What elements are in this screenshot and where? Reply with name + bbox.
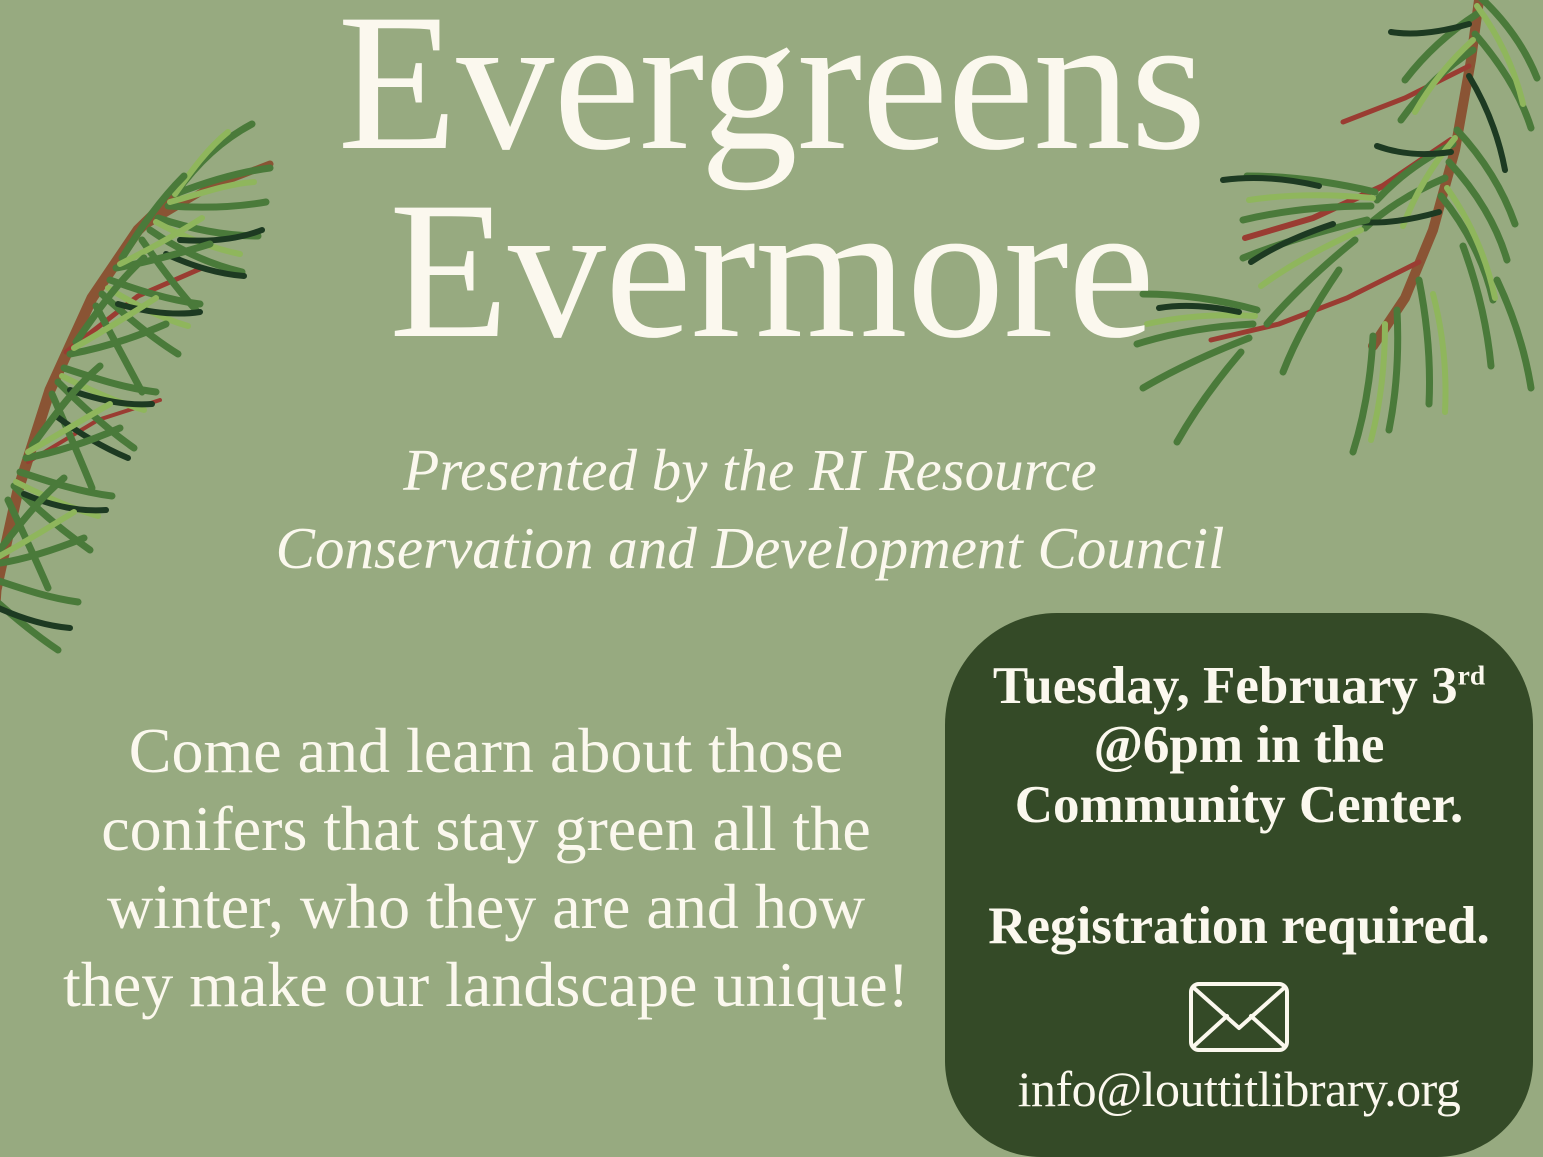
title-line-1: Evergreens	[0, 0, 1543, 180]
envelope-icon-glyph	[1187, 980, 1291, 1054]
event-date-prefix: Tuesday, February	[993, 657, 1418, 715]
event-details-panel: Tuesday, February 3rd @6pm in the Commun…	[945, 613, 1533, 1157]
event-day-ordinal: rd	[1458, 659, 1486, 690]
subtitle-line-2: Conservation and Development Council	[140, 510, 1360, 588]
envelope-icon	[967, 980, 1511, 1054]
contact-email[interactable]: info@louttitlibrary.org	[967, 1062, 1511, 1117]
poster-subtitle: Presented by the RI Resource Conservatio…	[140, 432, 1360, 588]
poster-title: Evergreens Evermore	[0, 0, 1543, 368]
poster-description: Come and learn about those conifers that…	[62, 712, 910, 1024]
event-time-location: @6pm in the Community Center.	[1015, 716, 1464, 833]
event-day-number: 3	[1431, 657, 1458, 715]
registration-notice: Registration required.	[967, 897, 1511, 956]
subtitle-line-1: Presented by the RI Resource	[140, 432, 1360, 510]
event-poster: Evergreens Evermore Presented by the RI …	[0, 0, 1543, 1157]
event-datetime-text: Tuesday, February 3rd @6pm in the Commun…	[967, 657, 1511, 835]
title-line-2: Evermore	[0, 174, 1543, 368]
description-text: Come and learn about those conifers that…	[62, 712, 910, 1024]
